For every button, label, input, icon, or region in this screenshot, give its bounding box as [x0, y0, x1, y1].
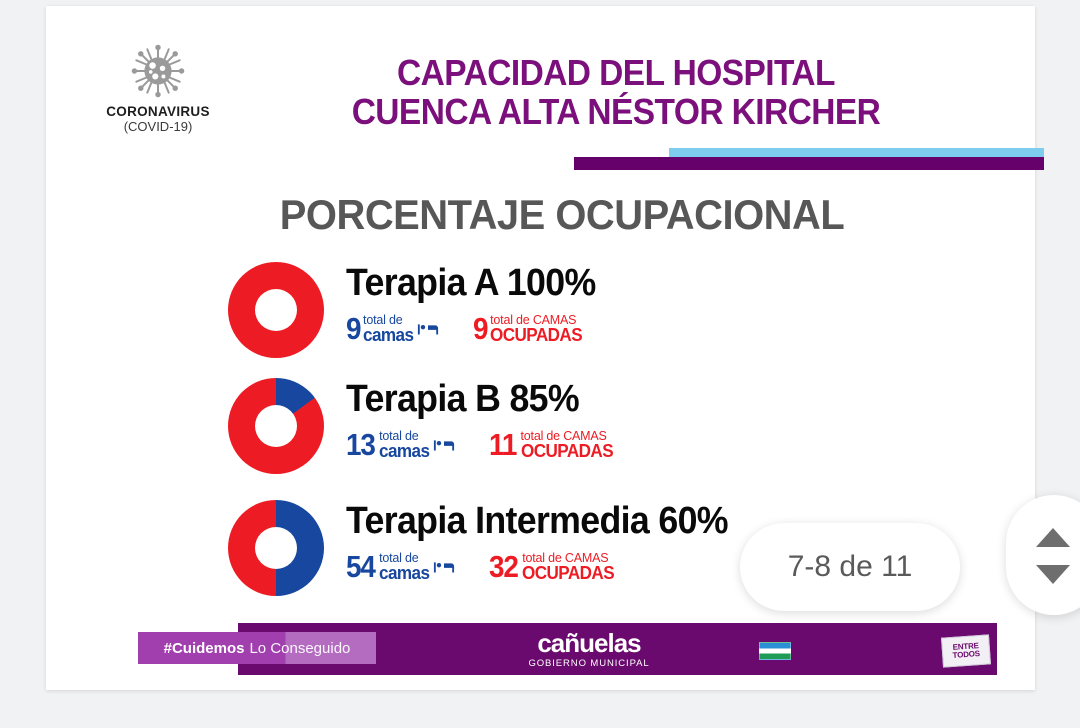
- therapy-title: Terapia Intermedia 60%: [346, 500, 728, 543]
- page-title: CAPACIDAD DEL HOSPITAL CUENCA ALTA NÉSTO…: [263, 54, 970, 131]
- coronavirus-icon: [129, 42, 187, 100]
- total-beds-label-bottom: camas: [379, 442, 429, 460]
- occupied-beds-stat: 32 total de CAMAS OCUPADAS: [489, 552, 619, 582]
- triangle-up-icon[interactable]: [1036, 528, 1070, 547]
- therapy-stats: 13 total de camas 11 total de CAMAS OCUP…: [346, 430, 651, 460]
- coronavirus-label: CORONAVIRUS: [98, 104, 218, 120]
- therapy-stats: 54 total de camas 32 total de CAMAS OCUP…: [346, 552, 653, 582]
- therapy-title: Terapia B 85%: [346, 378, 579, 421]
- therapy-title: Terapia A 100%: [346, 262, 596, 305]
- occupied-beds-label-bottom: OCUPADAS: [522, 564, 614, 582]
- donut-chart: [228, 262, 324, 358]
- total-beds-stat: 54 total de camas: [346, 552, 455, 582]
- donut-chart: [228, 378, 324, 474]
- bed-icon: [417, 321, 439, 337]
- occupied-beds-stat: 11 total de CAMAS OCUPADAS: [489, 430, 617, 460]
- total-beds-value: 54: [346, 552, 375, 581]
- canuelas-name: cañuelas: [509, 630, 669, 656]
- cuidemos-rest: Lo Conseguido: [249, 640, 350, 657]
- total-beds-value: 9: [346, 314, 360, 343]
- cuidemos-badge: #Cuidemos Lo Conseguido: [138, 632, 376, 664]
- occupied-beds-stat: 9 total de CAMAS OCUPADAS: [473, 314, 587, 344]
- section-heading: PORCENTAJE OCUPACIONAL: [116, 191, 1009, 239]
- occupied-beds-value: 9: [473, 314, 487, 343]
- total-beds-stat: 9 total de camas: [346, 314, 439, 344]
- donut-chart-wrap: [228, 500, 324, 596]
- covid-sublabel: (COVID-19): [98, 120, 218, 135]
- therapy-row: Terapia A 100% 9 total de camas 9 total …: [46, 258, 1035, 376]
- nav-controls[interactable]: [1006, 495, 1080, 615]
- entre-todos-logo: ENTRE TODOS: [941, 634, 991, 667]
- occupied-beds-label-bottom: OCUPADAS: [521, 442, 613, 460]
- entre-todos-line2: TODOS: [952, 650, 980, 660]
- occupied-beds-label-bottom: OCUPADAS: [490, 326, 582, 344]
- occupied-beds-value: 11: [489, 430, 516, 459]
- accent-bar-purple: [574, 157, 1044, 170]
- therapy-row: Terapia B 85% 13 total de camas 11 total…: [46, 374, 1035, 492]
- donut-chart: [228, 500, 324, 596]
- donut-chart-wrap: [228, 262, 324, 358]
- total-beds-label-bottom: camas: [363, 326, 413, 344]
- canuelas-subtitle: GOBIERNO MUNICIPAL: [509, 658, 669, 669]
- bed-icon: [433, 437, 455, 453]
- total-beds-value: 13: [346, 430, 375, 459]
- bed-icon: [433, 559, 455, 575]
- total-beds-stat: 13 total de camas: [346, 430, 455, 460]
- total-beds-label-bottom: camas: [379, 564, 429, 582]
- occupied-beds-value: 32: [489, 552, 518, 581]
- page-indicator: 7-8 de 11: [740, 523, 960, 611]
- accent-bars: [574, 148, 1044, 170]
- cuidemos-hashtag: #Cuidemos: [164, 640, 245, 657]
- therapy-stats: 9 total de camas 9 total de CAMAS OCUPAD…: [346, 314, 621, 344]
- donut-chart-wrap: [228, 378, 324, 474]
- coronavirus-logo: CORONAVIRUS (COVID-19): [98, 42, 218, 134]
- canuelas-logo: cañuelas GOBIERNO MUNICIPAL: [509, 630, 669, 669]
- triangle-down-icon[interactable]: [1036, 565, 1070, 584]
- canuelas-flag-icon: [759, 642, 791, 660]
